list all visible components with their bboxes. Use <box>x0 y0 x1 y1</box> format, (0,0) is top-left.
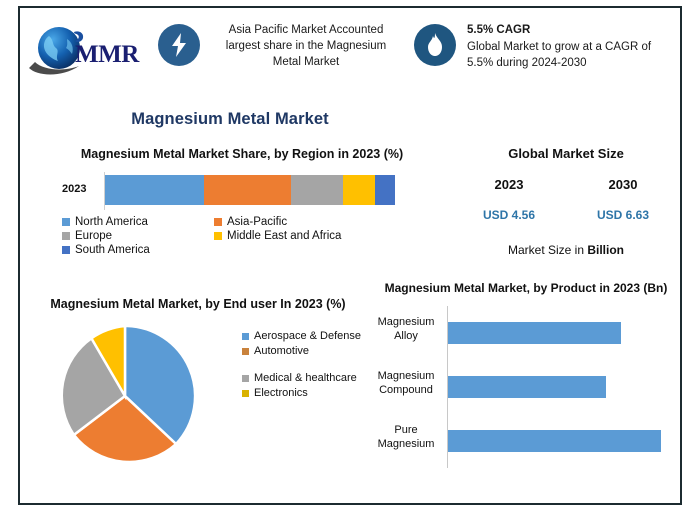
global-market-size-panel: Global Market Size 2023 2030 USD 4.56 US… <box>452 146 680 257</box>
product-row-magnesium-alloy: Magnesium Alloy <box>370 306 682 360</box>
product-bar-chart: Magnesium Metal Market, by Product in 20… <box>370 280 682 468</box>
legend-item-asia-pacific: Asia-Pacific <box>214 216 402 228</box>
legend-label: Medical & healthcare <box>254 371 357 386</box>
market-size-year-2023: 2023 <box>495 177 524 192</box>
region-segment-north-america <box>105 175 204 205</box>
legend-swatch-icon <box>62 218 70 226</box>
product-chart-plot: Magnesium Alloy Magnesium Compound Pure … <box>370 306 682 468</box>
flame-icon <box>414 24 456 66</box>
region-chart-title: Magnesium Metal Market Share, by Region … <box>62 146 422 163</box>
market-size-value-2030: USD 6.63 <box>597 208 649 222</box>
header-bar: MMR Asia Pacific Market Accounted larges… <box>20 8 680 92</box>
page-title: Magnesium Metal Market <box>20 110 440 129</box>
global-market-size-years: 2023 2030 <box>452 177 680 192</box>
product-row-label: Magnesium Compound <box>370 369 442 397</box>
product-bar-pure-magnesium <box>448 430 661 452</box>
global-market-size-title: Global Market Size <box>452 146 680 161</box>
brand-logo: MMR <box>20 8 158 92</box>
product-row-label: Magnesium Alloy <box>370 315 442 343</box>
legend-label: South America <box>75 244 150 256</box>
product-bar-magnesium-compound <box>448 376 606 398</box>
global-market-size-note: Market Size in Billion <box>452 243 680 257</box>
market-size-value-2023: USD 4.56 <box>483 208 535 222</box>
pie-legend-item-electronics: Electronics <box>242 386 362 401</box>
legend-label: Asia-Pacific <box>227 216 287 228</box>
region-chart-legend: North America Asia-Pacific Europe Middle… <box>62 216 402 256</box>
region-stacked-bar <box>105 175 395 205</box>
header-stat-apac: Asia Pacific Market Accounted largest sh… <box>158 8 408 70</box>
pie-legend-item-medical-healthcare: Medical & healthcare <box>242 371 362 386</box>
product-chart-title: Magnesium Metal Market, by Product in 20… <box>376 280 676 296</box>
legend-item-north-america: North America <box>62 216 214 228</box>
region-share-chart: Magnesium Metal Market Share, by Region … <box>62 146 442 256</box>
pie-legend-item-automotive: Automotive <box>242 344 362 359</box>
market-size-year-2030: 2030 <box>609 177 638 192</box>
region-segment-europe <box>291 175 343 205</box>
legend-item-europe: Europe <box>62 230 214 242</box>
legend-swatch-icon <box>62 232 70 240</box>
product-row-label: Pure Magnesium <box>370 423 442 451</box>
region-chart-axis-label: 2023 <box>62 183 86 195</box>
legend-item-middle-east-africa: Middle East and Africa <box>214 230 402 242</box>
legend-swatch-icon <box>214 232 222 240</box>
region-segment-middle-east-africa <box>343 175 375 205</box>
legend-spacer <box>242 359 362 371</box>
lightning-bolt-icon <box>158 24 200 66</box>
region-segment-asia-pacific <box>204 175 291 205</box>
legend-swatch-icon <box>242 375 249 382</box>
end-user-pie-chart: Magnesium Metal Market, by End user In 2… <box>44 296 364 471</box>
region-segment-south-america <box>375 175 395 205</box>
legend-swatch-icon <box>242 390 249 397</box>
header-stat-cagr-text: Global Market to grow at a CAGR of 5.5% … <box>467 39 662 71</box>
legend-label: Automotive <box>254 344 309 359</box>
legend-item-south-america: South America <box>62 244 214 256</box>
legend-label: Aerospace & Defense <box>254 329 361 344</box>
pie-legend-item-aerospace-defense: Aerospace & Defense <box>242 329 362 344</box>
pie-chart-plot: Aerospace & Defense Automotive Medical &… <box>44 321 364 471</box>
legend-label: Middle East and Africa <box>227 230 341 242</box>
product-bar-magnesium-alloy <box>448 322 621 344</box>
region-chart-plot: 2023 <box>62 172 417 210</box>
pie-chart-title: Magnesium Metal Market, by End user In 2… <box>48 296 348 313</box>
legend-label: Europe <box>75 230 112 242</box>
legend-label: Electronics <box>254 386 308 401</box>
legend-swatch-icon <box>242 348 249 355</box>
header-stat-apac-text: Asia Pacific Market Accounted largest sh… <box>211 22 401 70</box>
header-stat-cagr: 5.5% CAGR Global Market to grow at a CAG… <box>414 8 672 71</box>
pie-chart-legend: Aerospace & Defense Automotive Medical &… <box>242 329 362 401</box>
infographic-frame: MMR Asia Pacific Market Accounted larges… <box>18 6 682 505</box>
header-stat-cagr-heading: 5.5% CAGR <box>467 22 662 38</box>
legend-swatch-icon <box>242 333 249 340</box>
legend-swatch-icon <box>62 246 70 254</box>
legend-label: North America <box>75 216 148 228</box>
pie-chart-graphic <box>50 321 200 471</box>
product-row-magnesium-compound: Magnesium Compound <box>370 360 682 414</box>
brand-logo-text: MMR <box>75 41 139 69</box>
product-row-pure-magnesium: Pure Magnesium <box>370 414 682 468</box>
legend-swatch-icon <box>214 218 222 226</box>
market-size-note-prefix: Market Size in <box>508 243 587 257</box>
market-size-note-unit: Billion <box>587 243 624 257</box>
global-market-size-values: USD 4.56 USD 6.63 <box>452 208 680 222</box>
